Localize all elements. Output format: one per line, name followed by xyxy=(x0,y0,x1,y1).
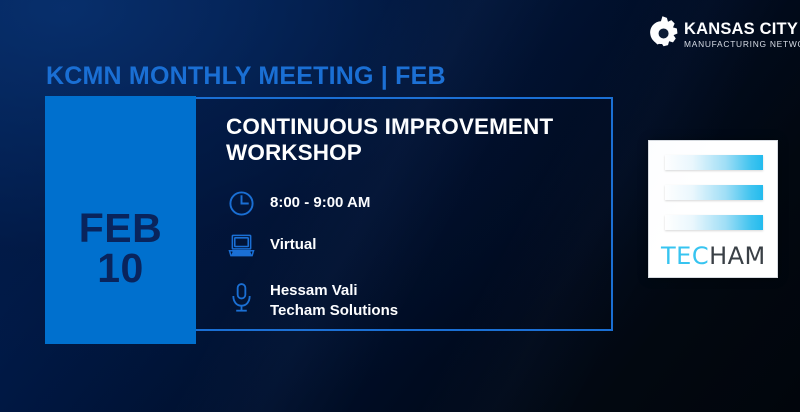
techam-bars xyxy=(661,152,765,230)
techam-bar xyxy=(665,185,763,200)
kcmn-logo: KANSAS CITY MANUFACTURING NETWORK xyxy=(645,9,793,57)
techam-logo: TECHAM xyxy=(648,140,778,278)
date-month: FEB xyxy=(45,208,196,248)
kcmn-name-line2: MANUFACTURING NETWORK xyxy=(684,40,800,48)
date-day: 10 xyxy=(45,248,196,288)
clock-icon xyxy=(226,188,256,218)
detail-row-location: Virtual xyxy=(226,230,316,260)
kcmn-name-line1: KANSAS CITY xyxy=(684,21,800,38)
detail-row-time: 8:00 - 9:00 AM xyxy=(226,188,370,218)
date-block: FEB 10 xyxy=(45,96,196,344)
detail-label-location: Virtual xyxy=(270,230,316,255)
date-text: FEB 10 xyxy=(45,208,196,288)
detail-row-speaker: Hessam Vali Techam Solutions xyxy=(226,280,398,321)
event-title: CONTINUOUS IMPROVEMENT WORKSHOP xyxy=(226,114,598,167)
techam-wordmark-part1: TEC xyxy=(661,242,709,270)
techam-wordmark-part2: HAM xyxy=(709,242,766,270)
kcmn-wordmark: KANSAS CITY MANUFACTURING NETWORK xyxy=(684,18,800,48)
detail-label-time: 8:00 - 9:00 AM xyxy=(270,188,370,213)
page-title: KCMN MONTHLY MEETING | FEB xyxy=(46,62,446,91)
flyer-canvas: KANSAS CITY MANUFACTURING NETWORK KCMN M… xyxy=(0,0,800,412)
microphone-icon xyxy=(226,282,256,312)
gear-icon xyxy=(645,14,681,54)
techam-bar xyxy=(665,155,763,170)
laptop-icon xyxy=(226,230,256,260)
detail-label-speaker: Hessam Vali Techam Solutions xyxy=(270,280,398,321)
techam-bar xyxy=(665,215,763,230)
techam-wordmark: TECHAM xyxy=(661,244,765,269)
